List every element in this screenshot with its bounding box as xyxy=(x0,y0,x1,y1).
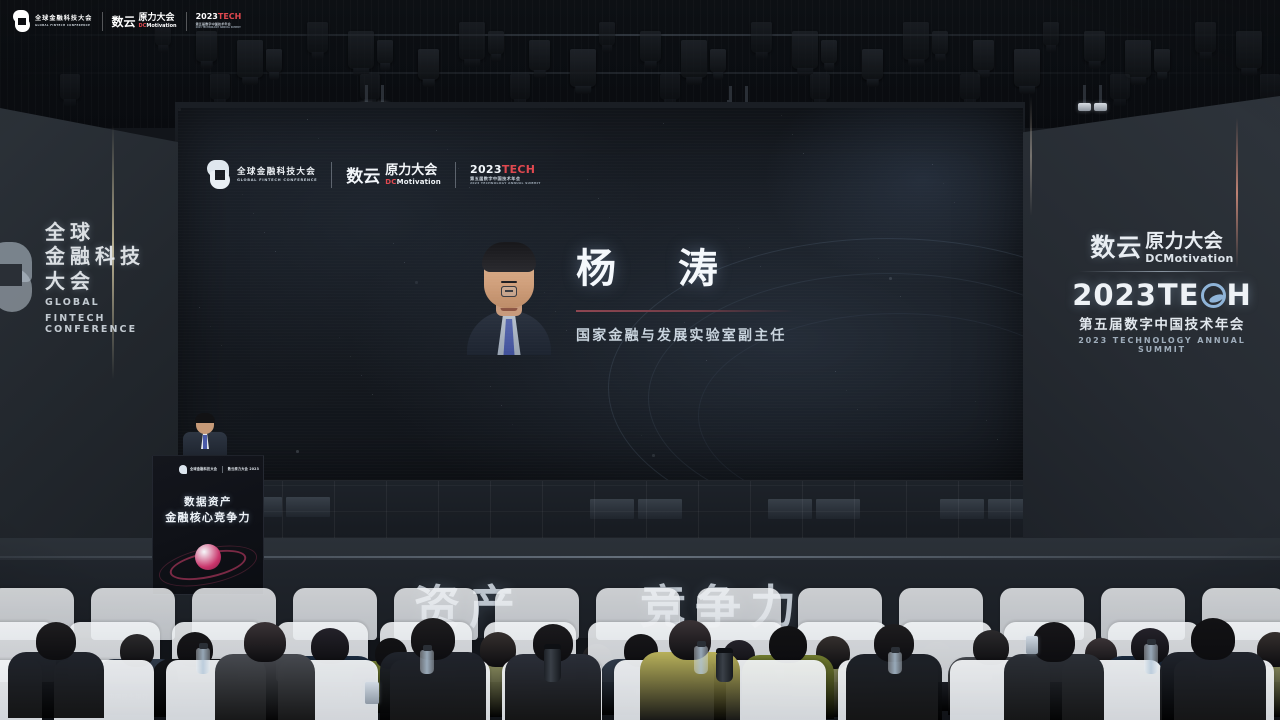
star-dot xyxy=(652,454,655,457)
screen-logo-tech: 2023TECH 第五届数字中国技术年会 2023 TECHNOLOGY ANN… xyxy=(470,164,541,186)
right-sign-motivation: DCMotivation xyxy=(1145,253,1234,264)
screen-logo-gfc-en: GLOBAL FINTECH CONFERENCE xyxy=(237,178,317,182)
stage-light-icon xyxy=(1125,40,1151,78)
led-panel-cell xyxy=(638,499,682,519)
led-panel-cell xyxy=(286,497,330,517)
led-panel-cell xyxy=(940,499,984,519)
screen-logo-gfc-cn: 全球金融科技大会 xyxy=(237,167,317,177)
watermark-gfc-cn: 全球金融科技大会 xyxy=(35,15,93,23)
star-dot xyxy=(307,119,308,120)
logo-divider xyxy=(186,12,187,31)
led-panel-cell xyxy=(768,499,812,519)
stage-light-icon xyxy=(960,74,980,100)
stage-light-icon xyxy=(1014,49,1040,87)
stage-light-icon xyxy=(307,22,328,53)
stage-light-icon xyxy=(1154,49,1170,73)
water-bottle xyxy=(1144,644,1158,674)
stage-light-icon xyxy=(488,31,504,55)
lamp-cable xyxy=(1099,85,1102,103)
star-dot xyxy=(404,262,405,263)
gfc-logo-mark-icon xyxy=(179,465,187,474)
stage-light-icon xyxy=(681,40,707,78)
right-sign-summit-cn: 第五届数字中国技术年会 xyxy=(1062,313,1262,333)
podium-title: 数据资产 金融核心竞争力 xyxy=(153,496,263,525)
stage-light-icon xyxy=(266,49,282,73)
screen-tech-en: 2023 TECHNOLOGY ANNUAL SUMMIT xyxy=(470,182,541,185)
screen-tech-year: 2023 xyxy=(470,163,502,176)
water-bottle xyxy=(694,646,708,674)
watermark-tech-word: TECH xyxy=(218,12,242,21)
stage-light-icon xyxy=(1110,74,1130,100)
audience-torso xyxy=(1160,652,1266,720)
right-sign-tech-te: TE xyxy=(1158,278,1200,312)
stage-light-icon xyxy=(1043,22,1059,46)
speaker-portrait-photo xyxy=(465,230,553,355)
stage-light-icon xyxy=(973,40,994,71)
wall-sign-en-line1: GLOBAL xyxy=(45,297,156,309)
watermark-gfc-logo: 全球金融科技大会 GLOBAL FINTECH CONFERENCE xyxy=(12,10,93,32)
star-dot xyxy=(275,251,276,252)
stage-light-icon xyxy=(810,74,830,100)
water-bottle xyxy=(420,650,434,674)
podium-logo-dc: 数云原力大会 2023 xyxy=(228,467,259,471)
wall-sign-global-fintech: 全球 金融科技大会 GLOBAL FINTECH CONFERENCE xyxy=(0,218,156,338)
watermark-dc-rest: Motivation xyxy=(146,23,176,29)
star-dot xyxy=(242,194,243,195)
stage-light-icon xyxy=(1195,22,1216,53)
right-sign-shuyun: 数云 xyxy=(1090,228,1142,264)
stage-light-icon xyxy=(792,31,818,69)
wall-light-strip-right-upper xyxy=(1030,96,1032,216)
gfc-logo-mark-icon xyxy=(12,10,31,32)
tumbler-cap xyxy=(716,648,733,653)
watermark-tech-year: 2023 xyxy=(196,12,218,21)
star-dot xyxy=(663,123,664,124)
star-dot xyxy=(436,130,437,131)
screen-logo-dc-rest: Motivation xyxy=(397,178,441,186)
podium-logo-bar: 全球金融科技大会 数云原力大会 2023 xyxy=(179,465,259,474)
star-dot xyxy=(361,375,362,376)
stage-light-icon xyxy=(210,74,230,100)
right-sign-yuanli: 原力大会 xyxy=(1145,232,1234,251)
stage-light-icon xyxy=(529,40,550,71)
right-sign-summit-en: 2023 TECHNOLOGY ANNUAL SUMMIT xyxy=(1062,336,1262,354)
main-led-screen: 全球金融科技大会 GLOBAL FINTECH CONFERENCE 数云 原力… xyxy=(178,108,1023,480)
stage-light-icon xyxy=(196,31,217,62)
stage-light-icon xyxy=(418,49,439,80)
audience-head xyxy=(36,622,76,660)
led-panel-cell xyxy=(816,499,860,519)
screen-logo-gfc: 全球金融科技大会 GLOBAL FINTECH CONFERENCE xyxy=(206,160,317,189)
stage-light-icon xyxy=(710,49,726,73)
stage-light-icon xyxy=(570,49,596,87)
logo-divider xyxy=(331,162,332,188)
water-bottle xyxy=(196,648,210,674)
thermos-tumbler xyxy=(544,648,561,682)
audience-head xyxy=(769,626,807,663)
wall-sign-dcmotivation: 数云 原力大会 DCMotivation 2023 TE H 第五届数字中国技术… xyxy=(1062,228,1262,354)
bottle-cap xyxy=(1147,639,1156,645)
bottle-cap xyxy=(891,647,900,653)
bottle-cap xyxy=(199,643,208,649)
star-dot xyxy=(555,311,556,312)
star-dot xyxy=(501,405,502,406)
stage-light-icon xyxy=(751,22,772,53)
stage-light-icon xyxy=(821,40,837,64)
logo-divider xyxy=(222,466,223,473)
tumbler-cap xyxy=(544,644,561,649)
screen-header-logos: 全球金融科技大会 GLOBAL FINTECH CONFERENCE 数云 原力… xyxy=(206,160,541,189)
audience-member xyxy=(215,622,315,720)
stage-light-icon xyxy=(237,40,263,78)
lamp-cable xyxy=(381,85,384,103)
hanging-lamp-icon xyxy=(1094,103,1107,111)
stage-light-icon xyxy=(1260,74,1280,100)
star-dot xyxy=(264,232,265,233)
stage-light-icon xyxy=(348,31,374,69)
screen-logo-dc-prefix: DC xyxy=(385,178,396,186)
star-dot xyxy=(178,108,181,111)
audience-member xyxy=(1160,618,1266,720)
led-panel-cell xyxy=(590,499,634,519)
podium-title-line1: 数据资产 xyxy=(153,496,263,509)
star-dot xyxy=(253,213,254,214)
screen-logo-yuanli: 原力大会 xyxy=(385,164,441,177)
thermos-tumbler xyxy=(716,652,733,682)
speaker-name: 杨 涛 xyxy=(576,236,936,294)
screen-logo-dcmotivation: 数云 原力大会 DCMotivation xyxy=(346,162,441,187)
podium-logo-gfc: 全球金融科技大会 xyxy=(190,467,217,471)
screen-tech-cn: 第五届数字中国技术年会 xyxy=(470,177,520,181)
stage-light-icon xyxy=(360,74,380,100)
smartphone-held xyxy=(365,682,379,704)
watermark-gfc-en: GLOBAL FINTECH CONFERENCE xyxy=(35,24,93,27)
wall-sign-cn-line1: 全球 xyxy=(45,220,156,244)
speaker-title: 国家金融与发展实验室副主任 xyxy=(576,325,936,345)
star-dot xyxy=(296,450,299,453)
smartphone-held xyxy=(1026,636,1038,654)
watermark-tech-en: 2023 TECHNOLOGY ANNUAL SUMMIT xyxy=(196,27,242,29)
broadcast-watermark: 全球金融科技大会 GLOBAL FINTECH CONFERENCE 数云 原力… xyxy=(12,10,241,32)
stage-light-icon xyxy=(862,49,883,80)
star-dot xyxy=(210,326,211,327)
speaker-name-block: 杨 涛 国家金融与发展实验室副主任 xyxy=(576,236,936,345)
star-dot xyxy=(490,386,491,387)
star-dot xyxy=(199,307,200,308)
star-dot xyxy=(512,424,513,425)
right-sign-tech-h: H xyxy=(1227,278,1252,312)
lamp-cable xyxy=(365,85,368,103)
star-dot xyxy=(318,138,319,139)
audience-head xyxy=(311,628,349,664)
gfc-logo-mark-icon xyxy=(206,160,232,189)
stage-light-icon xyxy=(377,40,393,64)
stage-light-icon xyxy=(1236,31,1262,69)
audience-head xyxy=(244,622,286,662)
hanging-lamp-icon xyxy=(1078,103,1091,111)
watermark-tech-logo: 2023TECH 第五届数字中国技术年会 2023 TECHNOLOGY ANN… xyxy=(196,13,242,29)
audience-torso xyxy=(8,652,104,718)
logo-divider xyxy=(455,162,456,188)
podium-title-line2: 金融核心竞争力 xyxy=(153,511,263,525)
stage-light-icon xyxy=(599,22,615,46)
star-dot xyxy=(447,149,448,150)
audience-torso xyxy=(1004,654,1104,720)
stage-light-icon xyxy=(459,22,485,60)
audience-head xyxy=(1191,618,1235,660)
conference-stage-scene: 全球 金融科技大会 GLOBAL FINTECH CONFERENCE 数云 原… xyxy=(0,0,1280,720)
bottle-cap xyxy=(423,645,432,651)
stage-light-icon xyxy=(1084,31,1105,62)
star-dot xyxy=(372,394,373,395)
wall-sign-en-line2: FINTECH CONFERENCE xyxy=(45,313,156,336)
stage-light-icon xyxy=(903,22,929,60)
right-sign-divider xyxy=(1079,271,1245,272)
bottle-cap xyxy=(697,641,706,647)
gfc-logo-mark-icon xyxy=(0,242,36,314)
audience-torso xyxy=(215,654,315,720)
stage-light-icon xyxy=(932,31,948,55)
watermark-dc-logo: 数云 原力大会 DCMotivation xyxy=(112,13,177,30)
star-dot xyxy=(598,198,599,199)
truss-beam xyxy=(0,72,1280,74)
star-dot xyxy=(221,345,222,346)
audience-area: 中国民生银行中国进出口银行中国银行中信银行 xyxy=(0,560,1280,720)
screen-logo-shuyun: 数云 xyxy=(346,162,380,187)
water-bottle xyxy=(888,652,902,674)
right-sign-year: 2023 xyxy=(1072,278,1157,312)
audience-member xyxy=(1004,622,1104,720)
stage-light-icon xyxy=(660,74,680,100)
speaker-name-rule xyxy=(576,310,794,312)
star-dot xyxy=(415,281,418,284)
led-panel-cell xyxy=(988,499,1023,519)
screen-tech-word: TECH xyxy=(502,163,536,176)
audience-seat xyxy=(726,660,826,720)
stage-light-icon xyxy=(60,74,80,100)
wall-sign-cn-line2: 金融科技大会 xyxy=(45,244,156,293)
star-dot xyxy=(738,228,739,229)
speaker-at-podium xyxy=(183,414,227,460)
watermark-shuyun: 数云 xyxy=(112,13,136,30)
watermark-yuanli: 原力大会 xyxy=(139,14,177,23)
audience-head xyxy=(1033,622,1075,662)
star-dot xyxy=(339,337,340,338)
stage-light-icon xyxy=(510,74,530,100)
lamp-cable xyxy=(1083,85,1086,103)
logo-divider xyxy=(102,12,103,31)
star-dot xyxy=(566,330,567,331)
star-dot xyxy=(350,356,351,357)
star-dot xyxy=(393,243,394,244)
at-symbol-icon xyxy=(1201,283,1226,308)
audience-member xyxy=(8,622,104,720)
star-dot xyxy=(609,217,610,218)
stage-light-icon xyxy=(640,31,661,62)
right-sign-tech-lockup: 2023 TE H xyxy=(1062,278,1262,312)
led-lower-panel xyxy=(178,480,1023,538)
star-dot xyxy=(587,179,588,180)
